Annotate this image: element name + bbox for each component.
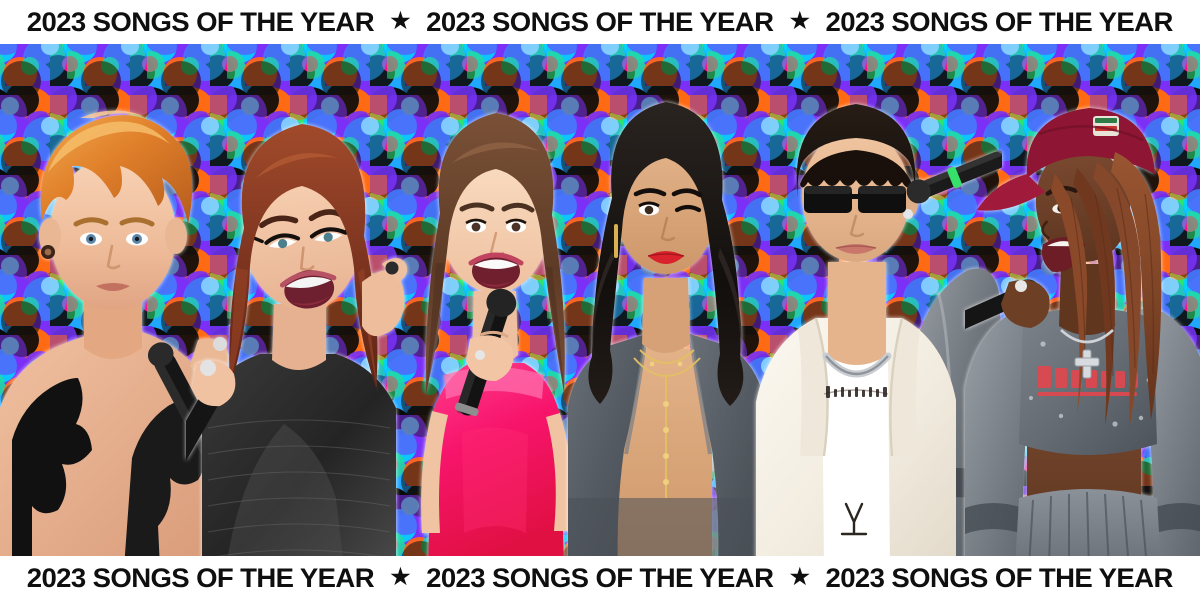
banner-phrase-2: 2023 SONGS OF THE YEAR [426,7,773,38]
artist-cutout-5 [742,56,1002,568]
artist-cutout-row [0,36,1200,564]
songs-of-the-year-hero: 2023 SONGS OF THE YEAR ★ 2023 SONGS OF T… [0,0,1200,600]
top-marquee-strip: 2023 SONGS OF THE YEAR ★ 2023 SONGS OF T… [27,7,1173,38]
banner-phrase-2: 2023 SONGS OF THE YEAR [426,563,773,594]
star-icon: ★ [774,10,826,32]
banner-phrase-1: 2023 SONGS OF THE YEAR [27,563,374,594]
bottom-marquee-banner: 2023 SONGS OF THE YEAR ★ 2023 SONGS OF T… [0,556,1200,600]
banner-phrase-1: 2023 SONGS OF THE YEAR [27,7,374,38]
bottom-marquee-strip: 2023 SONGS OF THE YEAR ★ 2023 SONGS OF T… [27,563,1173,594]
artist-cutout-2 [186,68,416,568]
star-icon: ★ [774,566,826,588]
star-icon: ★ [374,10,426,32]
top-marquee-banner: 2023 SONGS OF THE YEAR ★ 2023 SONGS OF T… [0,0,1200,44]
artist-cutout-6 [965,68,1200,568]
banner-phrase-3: 2023 SONGS OF THE YEAR [826,563,1173,594]
star-icon: ★ [374,566,426,588]
banner-phrase-3: 2023 SONGS OF THE YEAR [826,7,1173,38]
